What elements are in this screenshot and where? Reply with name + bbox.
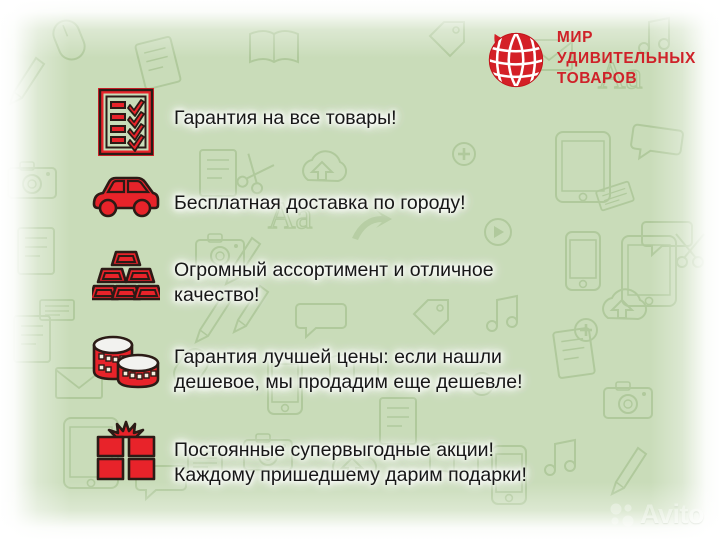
feature-line: качество! xyxy=(174,283,680,308)
coin-stacks-icon xyxy=(78,332,174,392)
feature-item: Бесплатная доставка по городу! xyxy=(78,172,680,240)
feature-line: Гарантия лучшей цены: если нашли xyxy=(174,345,680,370)
avito-label: Avito xyxy=(640,501,704,528)
feature-text: Постоянные супервыгодные акции! Каждому … xyxy=(174,418,680,489)
red-globe-icon xyxy=(485,28,547,90)
feature-line: Постоянные супервыгодные акции! xyxy=(174,438,680,463)
feature-text: Огромный ассортимент и отличное качество… xyxy=(174,248,680,309)
brand-line-2: УДИВИТЕЛЬНЫХ xyxy=(557,49,696,69)
gold-bars-stack-icon xyxy=(78,248,174,304)
feature-item: Постоянные супервыгодные акции! Каждому … xyxy=(78,418,680,504)
brand-logo: МИР УДИВИТЕЛЬНЫХ ТОВАРОВ xyxy=(485,28,696,90)
feature-text: Гарантия на все товары! xyxy=(174,88,680,131)
promo-poster: Aa xyxy=(0,0,720,540)
feature-item: Гарантия лучшей цены: если нашли дешевое… xyxy=(78,332,680,410)
feature-line: Огромный ассортимент и отличное xyxy=(174,258,680,283)
feature-line: Гарантия на все товары! xyxy=(174,106,680,131)
feature-line: Бесплатная доставка по городу! xyxy=(174,191,680,216)
feature-list: Гарантия на все товары! Бесплатная доста… xyxy=(78,88,680,512)
feature-item: Гарантия на все товары! xyxy=(78,88,680,164)
car-icon xyxy=(78,172,174,218)
brand-line-3: ТОВАРОВ xyxy=(557,69,696,89)
brand-name: МИР УДИВИТЕЛЬНЫХ ТОВАРОВ xyxy=(557,28,696,89)
feature-text: Бесплатная доставка по городу! xyxy=(174,172,680,216)
gift-box-icon xyxy=(78,418,174,482)
feature-text: Гарантия лучшей цены: если нашли дешевое… xyxy=(174,332,680,396)
avito-watermark: Avito xyxy=(609,501,704,528)
avito-dots-icon xyxy=(609,502,635,528)
feature-line: дешевое, мы продадим еще дешевле! xyxy=(174,370,680,395)
feature-item: Огромный ассортимент и отличное качество… xyxy=(78,248,680,324)
checklist-clipboard-icon xyxy=(78,88,174,156)
brand-line-1: МИР xyxy=(557,28,696,48)
feature-line: Каждому пришедшему дарим подарки! xyxy=(174,463,680,488)
